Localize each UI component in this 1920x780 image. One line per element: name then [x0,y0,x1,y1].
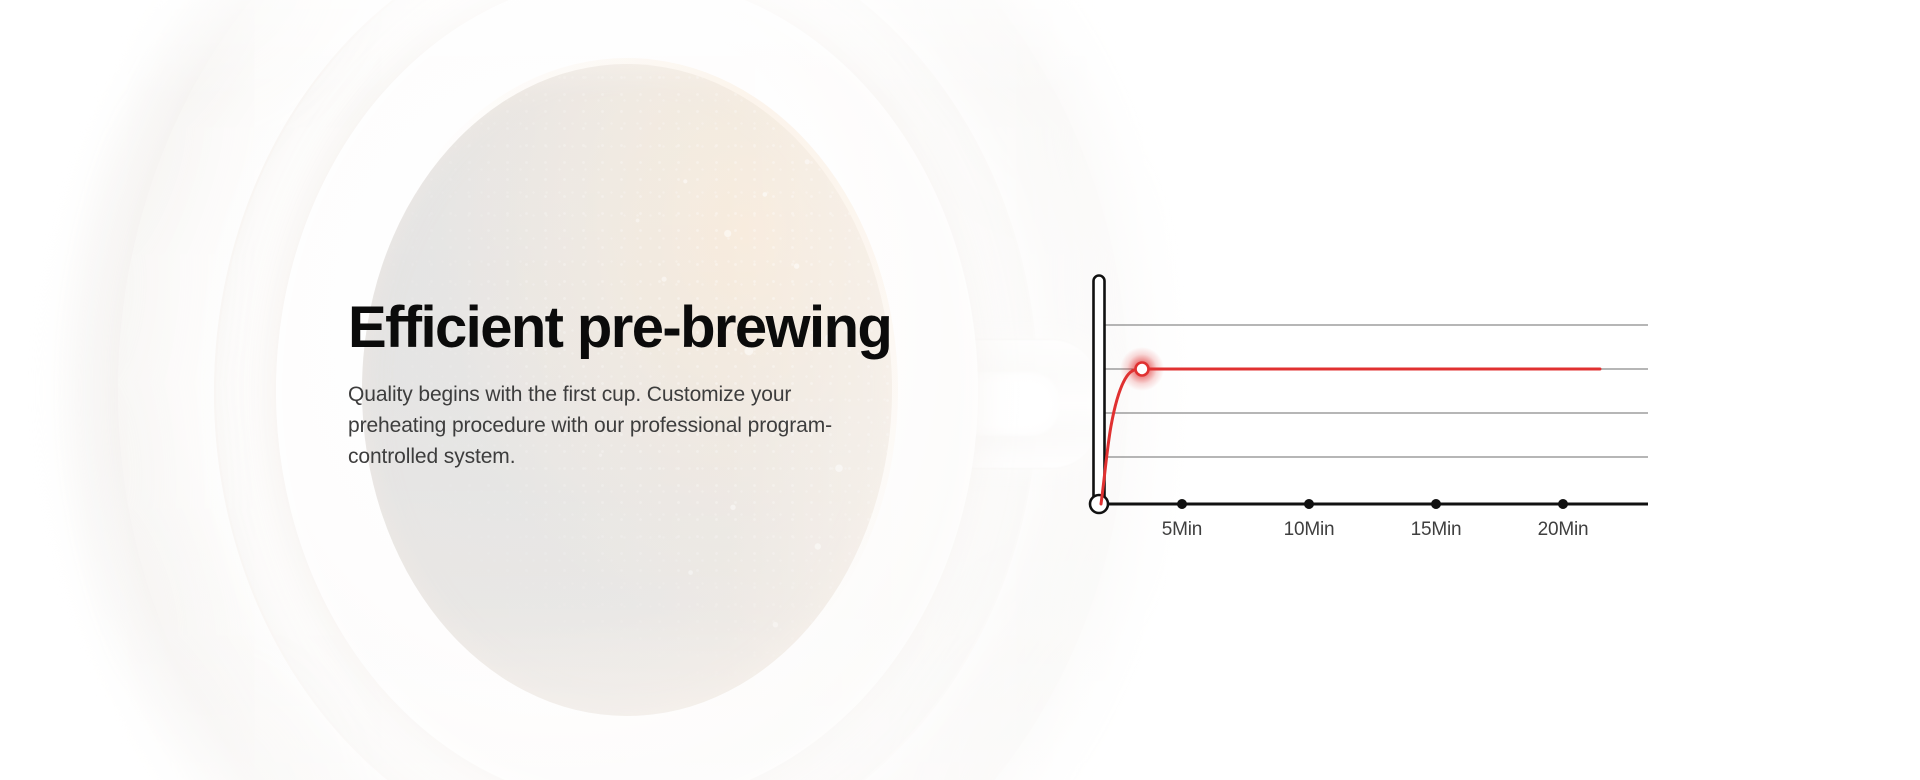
x-tick-dot [1177,499,1187,509]
hero-copy: Efficient pre-brewing Quality begins wit… [348,298,908,472]
x-tick-labels: 5Min 10Min 15Min 20Min [1162,519,1589,540]
plateau-marker[interactable] [1136,363,1149,376]
x-tick-dot [1558,499,1568,509]
series-preheat-temperature [1101,369,1600,504]
chart-gridlines [1098,325,1648,457]
x-tick-label: 15Min [1411,519,1462,540]
x-tick-dot [1431,499,1441,509]
preheat-chart: 5Min 10Min 15Min 20Min [1070,258,1670,548]
preheat-chart-svg: 5Min 10Min 15Min 20Min [1070,258,1670,548]
x-tick-label: 20Min [1538,519,1589,540]
x-tick-label: 10Min [1284,519,1335,540]
hero-description: Quality begins with the first cup. Custo… [348,379,848,472]
y-axis-bulb [1090,495,1108,513]
hero-section: Efficient pre-brewing Quality begins wit… [0,0,1920,780]
y-axis-capsule [1094,276,1105,506]
x-tick-dot [1304,499,1314,509]
x-tick-label: 5Min [1162,519,1202,540]
page-title: Efficient pre-brewing [348,298,908,357]
